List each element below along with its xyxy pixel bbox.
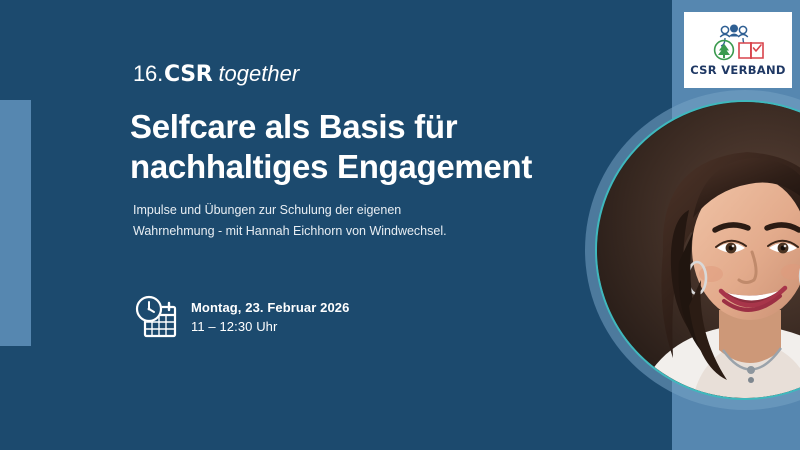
title-line-2: nachhaltiges Engagement: [130, 147, 600, 187]
schedule-block: Montag, 23. Februar 2026 11 – 12:30 Uhr: [133, 294, 349, 340]
left-accent-bar: [0, 100, 31, 346]
brand-together: together: [218, 61, 299, 86]
page-title: Selfcare als Basis für nachhaltiges Enga…: [130, 107, 600, 188]
series-eyebrow: 16.CSRtogether: [133, 62, 299, 87]
brand-csr: CSR: [164, 62, 212, 87]
calendar-clock-icon: [133, 294, 179, 340]
subtitle-line-2: Wahrnehmung - mit Hannah Eichhorn von Wi…: [133, 221, 533, 242]
csr-verband-emblem: [707, 23, 769, 63]
subtitle-line-1: Impulse und Übungen zur Schulung der eig…: [133, 200, 533, 221]
event-date: Montag, 23. Februar 2026: [191, 298, 349, 318]
schedule-text: Montag, 23. Februar 2026 11 – 12:30 Uhr: [191, 298, 349, 337]
event-time: 11 – 12:30 Uhr: [191, 317, 349, 337]
subtitle: Impulse und Übungen zur Schulung der eig…: [133, 200, 533, 241]
logo-wordmark: CSR VERBAND: [690, 65, 786, 77]
event-announcement-slide: CSR VERBAND 16.CSRtogether Selfcare als …: [0, 0, 800, 450]
edition-number: 16.: [133, 61, 163, 86]
title-line-1: Selfcare als Basis für: [130, 107, 600, 147]
csr-verband-logo: CSR VERBAND: [684, 12, 792, 88]
text-content: 16.CSRtogether Selfcare als Basis für na…: [133, 0, 633, 450]
